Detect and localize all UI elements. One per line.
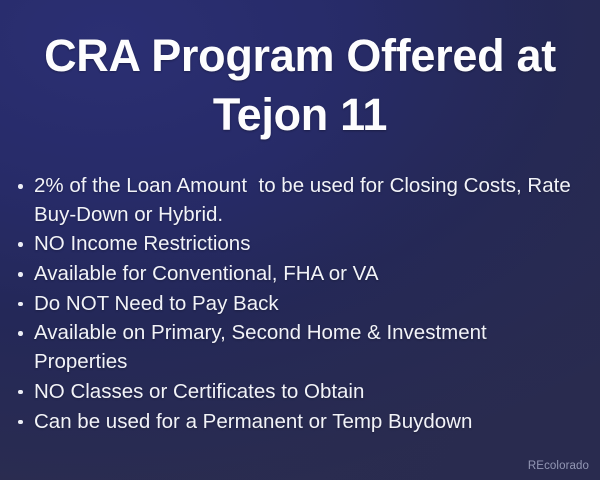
list-item: NO Classes or Certificates to Obtain: [14, 378, 578, 407]
bullet-list: 2% of the Loan Amount to be used for Clo…: [14, 172, 578, 437]
list-item: NO Income Restrictions: [14, 230, 578, 259]
title-line-2: Tejon 11: [0, 85, 600, 144]
presentation-slide: CRA Program Offered at Tejon 11 2% of th…: [0, 0, 600, 480]
list-item: Available on Primary, Second Home & Inve…: [14, 319, 578, 376]
title-line-1: CRA Program Offered at: [0, 26, 600, 85]
slide-title: CRA Program Offered at Tejon 11: [0, 26, 600, 145]
list-item: Available for Conventional, FHA or VA: [14, 260, 578, 289]
watermark-recolorado: REcolorado: [528, 460, 589, 472]
list-item: 2% of the Loan Amount to be used for Clo…: [14, 172, 578, 229]
list-item: Do NOT Need to Pay Back: [14, 290, 578, 319]
list-item: Can be used for a Permanent or Temp Buyd…: [14, 408, 578, 437]
